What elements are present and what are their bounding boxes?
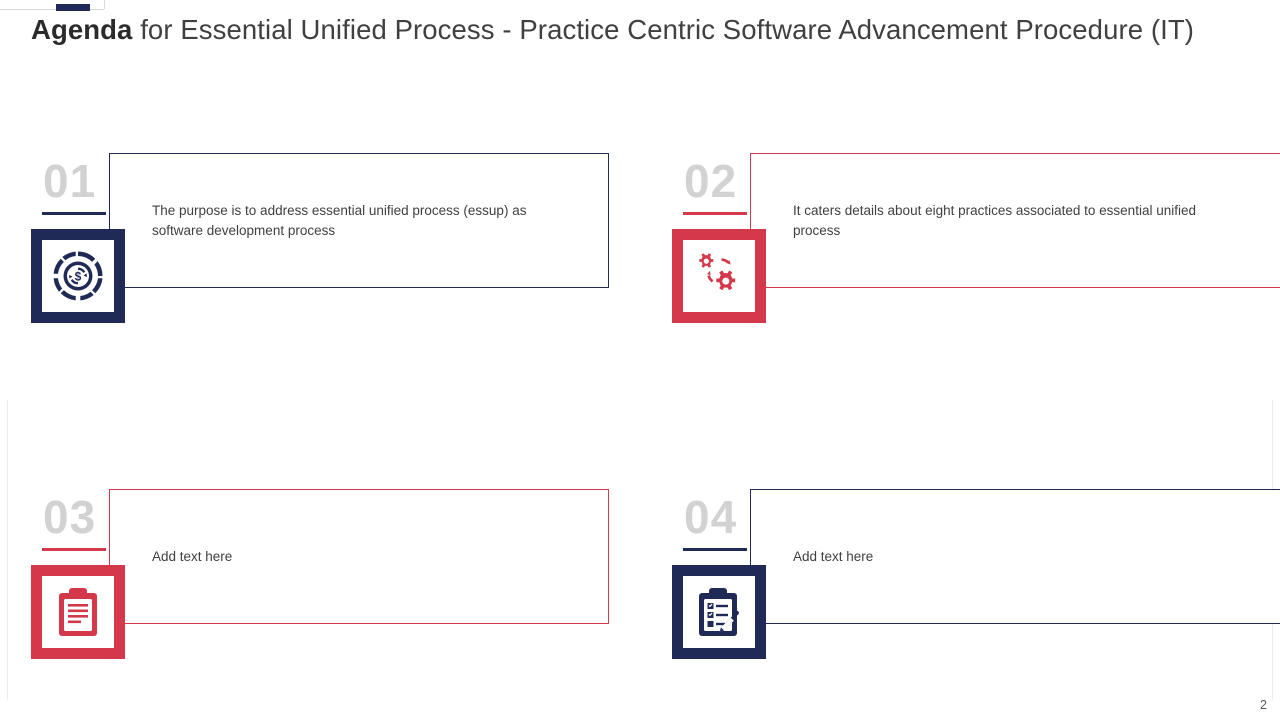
agenda-card-01-underline — [42, 212, 106, 215]
page-number: 2 — [1260, 698, 1267, 712]
page-title-rest: for Essential Unified Process - Practice… — [132, 14, 1194, 45]
page-title-bold: Agenda — [31, 14, 132, 45]
agenda-card-04-text: Add text here — [793, 547, 1193, 567]
svg-text:$: $ — [75, 270, 82, 284]
agenda-card-02-number: 02 — [684, 158, 737, 204]
agenda-card-03-number: 03 — [43, 494, 96, 540]
clipboard-checklist-pen-icon — [672, 565, 766, 659]
top-left-decoration-tick — [104, 0, 105, 9]
slide: Agenda for Essential Unified Process - P… — [0, 0, 1280, 720]
agenda-card-01-text: The purpose is to address essential unif… — [152, 201, 552, 240]
dollar-gear-icon: $ — [31, 229, 125, 323]
clipboard-document-icon — [31, 565, 125, 659]
gears-cogs-icon — [672, 229, 766, 323]
agenda-card-03-text: Add text here — [152, 547, 552, 567]
page-title: Agenda for Essential Unified Process - P… — [31, 10, 1261, 49]
agenda-card-02-underline — [683, 212, 747, 215]
agenda-card-02-text: It caters details about eight practices … — [793, 201, 1223, 240]
left-margin-rule — [7, 400, 8, 700]
agenda-card-04-number: 04 — [684, 494, 737, 540]
agenda-card-03-underline — [42, 548, 106, 551]
agenda-card-04-underline — [683, 548, 747, 551]
agenda-card-01-number: 01 — [43, 158, 96, 204]
